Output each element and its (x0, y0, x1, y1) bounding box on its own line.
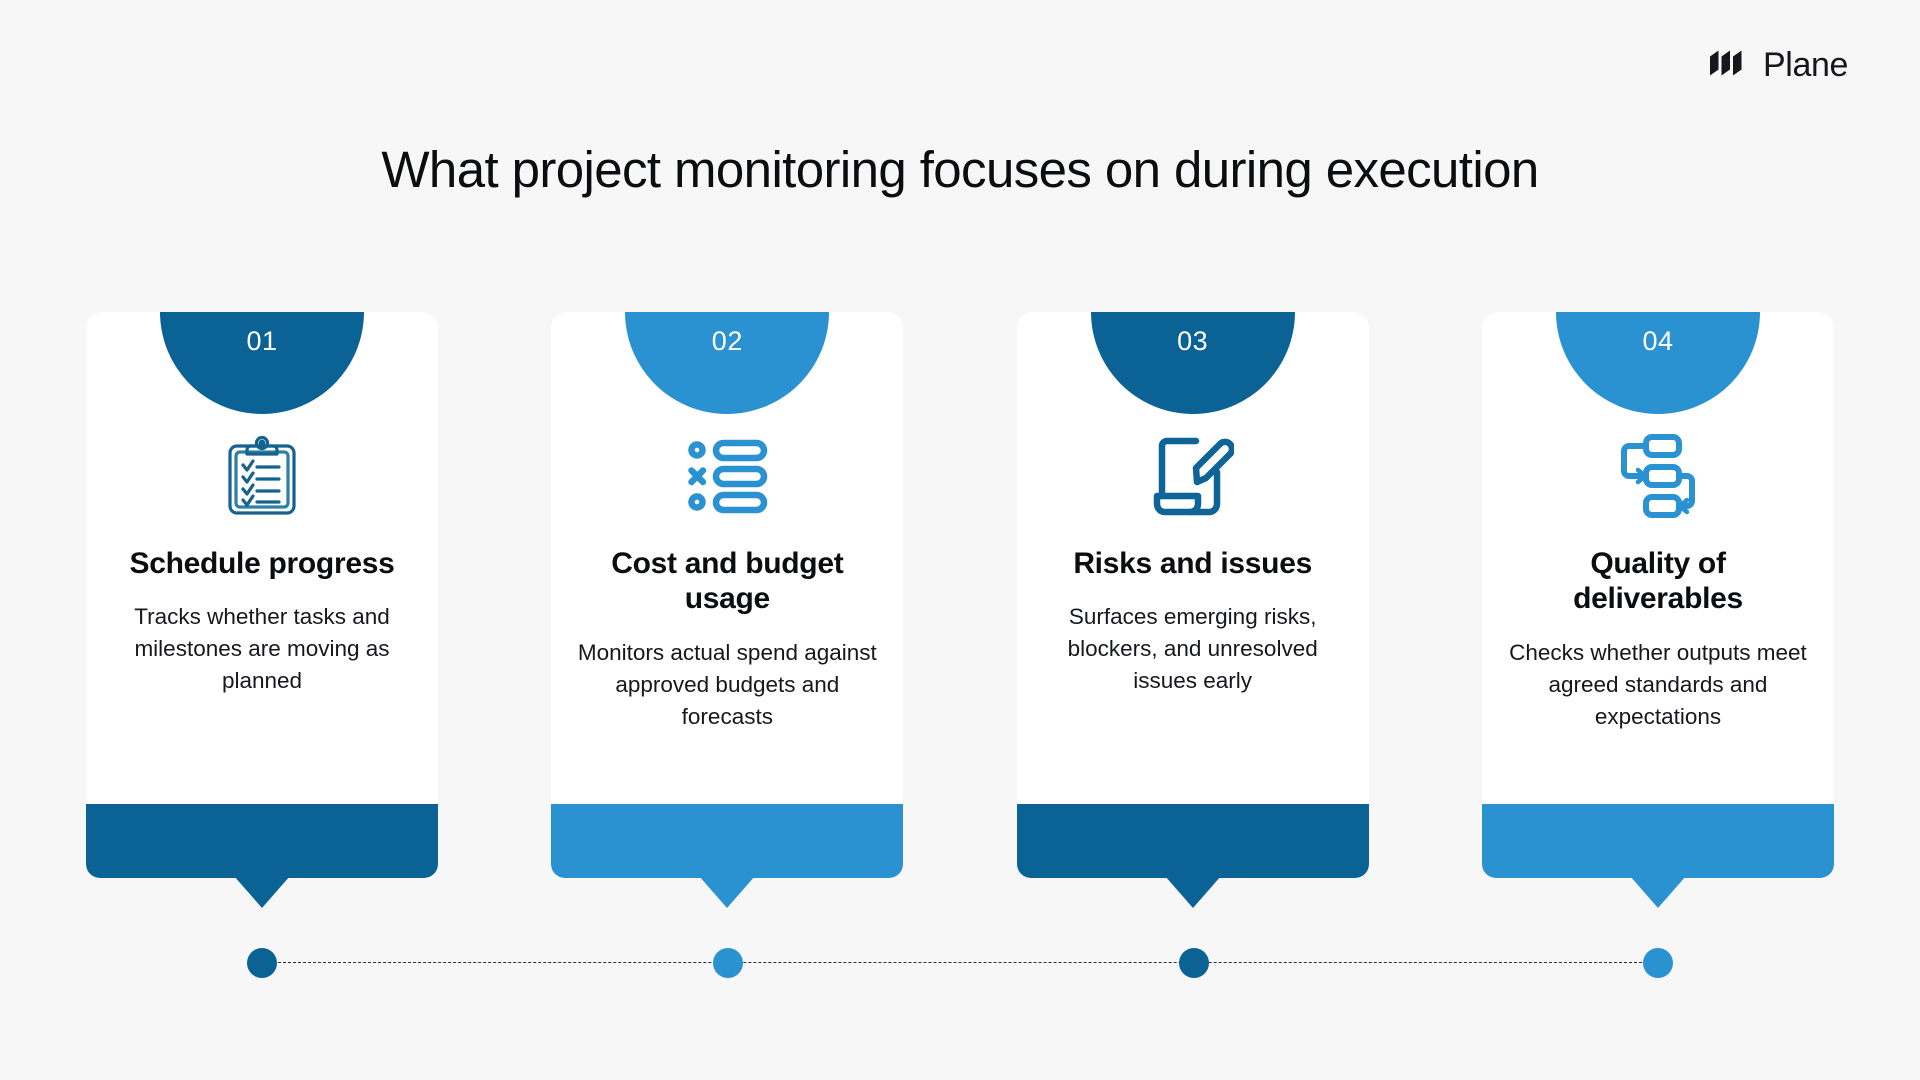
card-description: Checks whether outputs meet agreed stand… (1508, 637, 1808, 755)
step-number: 04 (1642, 326, 1673, 357)
card-description: Tracks whether tasks and milestones are … (112, 601, 412, 719)
timeline-dot-2[interactable] (713, 948, 743, 978)
plane-logo-mark-icon (1709, 49, 1749, 82)
workflow-flowchart-icon (1615, 428, 1701, 524)
card-footer-pointer (1482, 804, 1834, 878)
timeline-dot-3[interactable] (1179, 948, 1209, 978)
card-4[interactable]: 04 Quality of deliverables Checks whethe… (1482, 312, 1834, 878)
card-title: Quality of deliverables (1508, 546, 1808, 617)
step-number: 02 (712, 326, 743, 357)
card-title: Risks and issues (1073, 546, 1312, 581)
card-footer-pointer (551, 804, 903, 878)
card-body: 03 Risks and issues Surfaces emerging ri… (1017, 312, 1369, 804)
page-title: What project monitoring focuses on durin… (0, 140, 1920, 199)
clipboard-checklist-icon (225, 428, 299, 524)
card-body: 02 Cost and budget usage (551, 312, 903, 804)
step-badge: 03 (1091, 312, 1295, 414)
brand-name: Plane (1763, 48, 1848, 82)
card-footer-pointer (1017, 804, 1369, 878)
timeline (86, 948, 1834, 978)
step-number: 03 (1177, 326, 1208, 357)
card-body: 04 Quality of deliverables Checks whethe… (1482, 312, 1834, 804)
step-number: 01 (246, 326, 277, 357)
document-pencil-edit-icon (1152, 428, 1234, 524)
card-title: Schedule progress (130, 546, 395, 581)
step-badge: 04 (1556, 312, 1760, 414)
timeline-dot-4[interactable] (1643, 948, 1673, 978)
card-footer-pointer (86, 804, 438, 878)
brand-logo: Plane (1709, 48, 1848, 82)
card-1[interactable]: 01 Schedule progress (86, 312, 438, 878)
card-title: Cost and budget usage (577, 546, 877, 617)
card-description: Surfaces emerging risks, blockers, and u… (1043, 601, 1343, 719)
timeline-dot-1[interactable] (247, 948, 277, 978)
card-description: Monitors actual spend against approved b… (577, 637, 877, 755)
step-badge: 02 (625, 312, 829, 414)
cards-row: 01 Schedule progress (86, 312, 1834, 878)
infographic-canvas: Plane What project monitoring focuses on… (0, 0, 1920, 1080)
task-list-status-icon (686, 428, 768, 524)
card-body: 01 Schedule progress (86, 312, 438, 804)
card-3[interactable]: 03 Risks and issues Surfaces emerging ri… (1017, 312, 1369, 878)
step-badge: 01 (160, 312, 364, 414)
timeline-dashed-line (258, 962, 1662, 963)
card-2[interactable]: 02 Cost and budget usage (551, 312, 903, 878)
